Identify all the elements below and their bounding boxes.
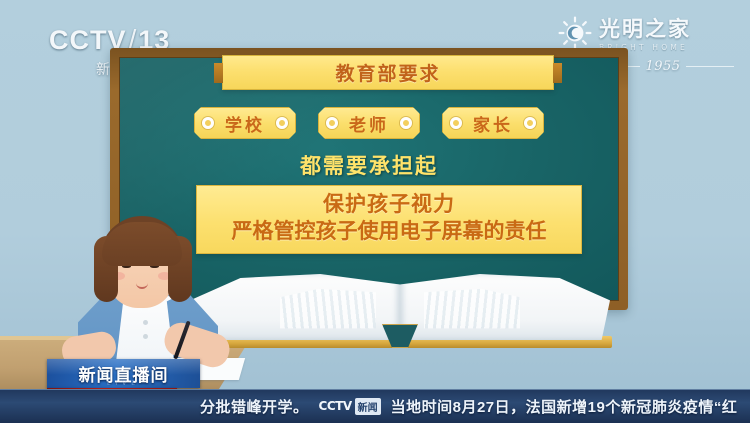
headline-banner: 教育部要求 xyxy=(222,55,554,90)
program-name-badge: 新闻直播间 LIVE xyxy=(47,359,200,388)
ticker-segment-1: 分批错峰开学。 xyxy=(200,396,309,417)
ticker-logo-news: 新闻 xyxy=(355,398,381,415)
pill-dot-right-icon xyxy=(276,117,288,129)
role-pill-parent: 家长 xyxy=(442,107,544,139)
student-hair-bangs xyxy=(102,222,182,266)
ticker-cctv-news-logo: CCTV 新闻 xyxy=(319,398,381,415)
ticker-text-1: 分批错峰开学。 xyxy=(200,396,309,417)
highlight-line-2: 严格管控孩子使用电子屏幕的责任 xyxy=(203,218,575,245)
pill-dot-right-icon xyxy=(400,117,412,129)
watermark-cn-name: 光明之家 xyxy=(599,19,691,40)
book-page-ruffle-right xyxy=(424,288,520,330)
student-shirt-button xyxy=(143,320,148,325)
board-mid-line: 都需要承担起 xyxy=(110,150,628,180)
live-label: LIVE xyxy=(47,380,200,387)
book-page-ruffle-left xyxy=(280,288,376,330)
watermark-year: 1955 xyxy=(645,59,680,74)
role-pill-school-label: 学校 xyxy=(225,111,265,136)
board-mid-line-text: 都需要承担起 xyxy=(300,155,438,178)
ticker-text-2: 当地时间8月27日，法国新增19个新冠肺炎疫情“红 xyxy=(391,396,738,417)
open-book-illustration xyxy=(188,266,612,348)
pill-dot-left-icon xyxy=(326,117,338,129)
broadcast-screen: CCTV / 13 新闻 xyxy=(0,0,750,423)
pill-dot-left-icon xyxy=(450,117,462,129)
news-ticker: 分批错峰开学。 CCTV 新闻 当地时间8月27日，法国新增19个新冠肺炎疫情“… xyxy=(0,389,750,423)
ticker-segment-2: 当地时间8月27日，法国新增19个新冠肺炎疫情“红 xyxy=(391,396,738,417)
pill-dot-right-icon xyxy=(524,117,536,129)
role-pill-group: 学校 老师 家长 xyxy=(110,104,628,142)
role-pill-school: 学校 xyxy=(194,107,296,139)
student-illustration xyxy=(72,216,232,376)
ticker-logo-cctv: CCTV xyxy=(319,399,352,413)
student-shirt-button xyxy=(143,334,148,339)
highlight-line-1: 保护孩子视力 xyxy=(203,191,575,218)
pill-dot-left-icon xyxy=(202,117,214,129)
role-pill-parent-label: 家长 xyxy=(473,111,513,136)
watermark-rule-right xyxy=(686,66,734,67)
role-pill-teacher: 老师 xyxy=(318,107,420,139)
role-pill-teacher-label: 老师 xyxy=(349,111,389,136)
highlight-block: 保护孩子视力 严格管控孩子使用电子屏幕的责任 xyxy=(196,185,582,254)
headline-banner-title: 教育部要求 xyxy=(335,59,440,86)
